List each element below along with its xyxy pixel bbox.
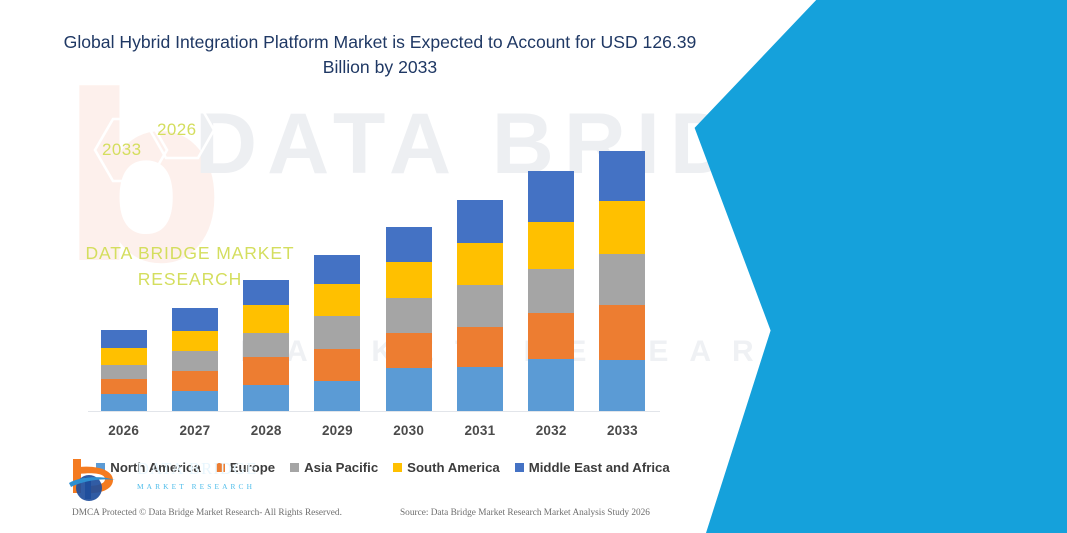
bar-segment	[528, 222, 574, 269]
legend-swatch-icon	[515, 463, 524, 472]
bar-segment	[599, 254, 645, 305]
logo-mark-icon	[65, 453, 131, 503]
brand-line-1: DATA BRIDGE MARKET	[0, 240, 380, 266]
axis-baseline	[88, 411, 660, 412]
legend-item[interactable]: Middle East and Africa	[515, 460, 670, 475]
x-axis-label: 2031	[445, 423, 515, 438]
page-title: Global Hybrid Integration Platform Marke…	[55, 30, 705, 80]
x-axis-label: 2026	[89, 423, 159, 438]
bar-segment	[314, 349, 360, 380]
bar-segment	[457, 200, 503, 244]
bar-segment	[101, 379, 147, 394]
bar-segment	[528, 359, 574, 411]
bar-segment	[243, 333, 289, 357]
legend-label: South America	[407, 460, 500, 475]
legend-label: Middle East and Africa	[529, 460, 670, 475]
legend-item[interactable]: Asia Pacific	[290, 460, 378, 475]
bar-segment	[599, 305, 645, 360]
x-axis-label: 2027	[160, 423, 230, 438]
bar-segment	[386, 333, 432, 368]
bar-segment	[386, 262, 432, 297]
bar-segment	[314, 381, 360, 411]
bar-segment	[457, 243, 503, 285]
logo-subtitle: MARKET RESEARCH	[137, 482, 258, 491]
bar-segment	[243, 385, 289, 411]
bar-segment	[599, 360, 645, 411]
x-axis-label: 2032	[516, 423, 586, 438]
legend-item[interactable]: South America	[393, 460, 500, 475]
brand-name: DATA BRIDGE MARKET RESEARCH	[0, 240, 380, 293]
hexagon-2033-label: 2033	[102, 140, 141, 160]
bar-segment	[528, 171, 574, 222]
legend-label: Asia Pacific	[304, 460, 378, 475]
bar-segment	[457, 285, 503, 327]
legend-swatch-icon	[393, 463, 402, 472]
x-axis-label: 2033	[587, 423, 657, 438]
bar-segment	[386, 298, 432, 334]
logo-name: DATA BRIDGE	[137, 459, 258, 479]
bar-segment	[172, 391, 218, 411]
bar-segment	[172, 331, 218, 351]
x-axis-labels: 20262027202820292030203120322033	[88, 420, 660, 444]
data-bridge-logo: DATA BRIDGE MARKET RESEARCH	[65, 453, 295, 505]
bar-segment	[528, 313, 574, 359]
bar-segment	[386, 227, 432, 263]
bar-segment	[101, 330, 147, 348]
hexagon-group: 2033 2026	[65, 95, 295, 210]
x-axis-label: 2028	[231, 423, 301, 438]
infographic-page: b DATA BRIDGE MARKET RESEARCH Global Hyb…	[0, 0, 1067, 533]
bar-segment	[457, 367, 503, 411]
bar-segment	[172, 351, 218, 371]
hexagon-icons	[65, 95, 295, 210]
logo-text: DATA BRIDGE MARKET RESEARCH	[137, 459, 258, 491]
brand-line-2: RESEARCH	[0, 266, 380, 292]
bar-segment	[101, 348, 147, 366]
bar-segment	[457, 327, 503, 367]
bar-segment	[172, 371, 218, 391]
hexagon-2026-label: 2026	[157, 120, 196, 140]
bar-segment	[599, 201, 645, 254]
bar-segment	[101, 365, 147, 378]
panel-title: Global Hybrid Integration Platform Marke…	[30, 12, 1057, 35]
bar-segment	[314, 316, 360, 349]
bar-segment	[243, 357, 289, 385]
footer-copyright: DMCA Protected © Data Bridge Market Rese…	[72, 508, 342, 518]
footer-source: Source: Data Bridge Market Research Mark…	[400, 508, 650, 518]
bar-segment	[528, 269, 574, 312]
bar-segment	[243, 305, 289, 333]
bar-segment	[101, 394, 147, 411]
bar-segment	[386, 368, 432, 411]
footer: DMCA Protected © Data Bridge Market Rese…	[0, 508, 760, 530]
x-axis-label: 2029	[302, 423, 372, 438]
bar-segment	[599, 151, 645, 201]
x-axis-label: 2030	[374, 423, 444, 438]
bar-segment	[172, 308, 218, 331]
